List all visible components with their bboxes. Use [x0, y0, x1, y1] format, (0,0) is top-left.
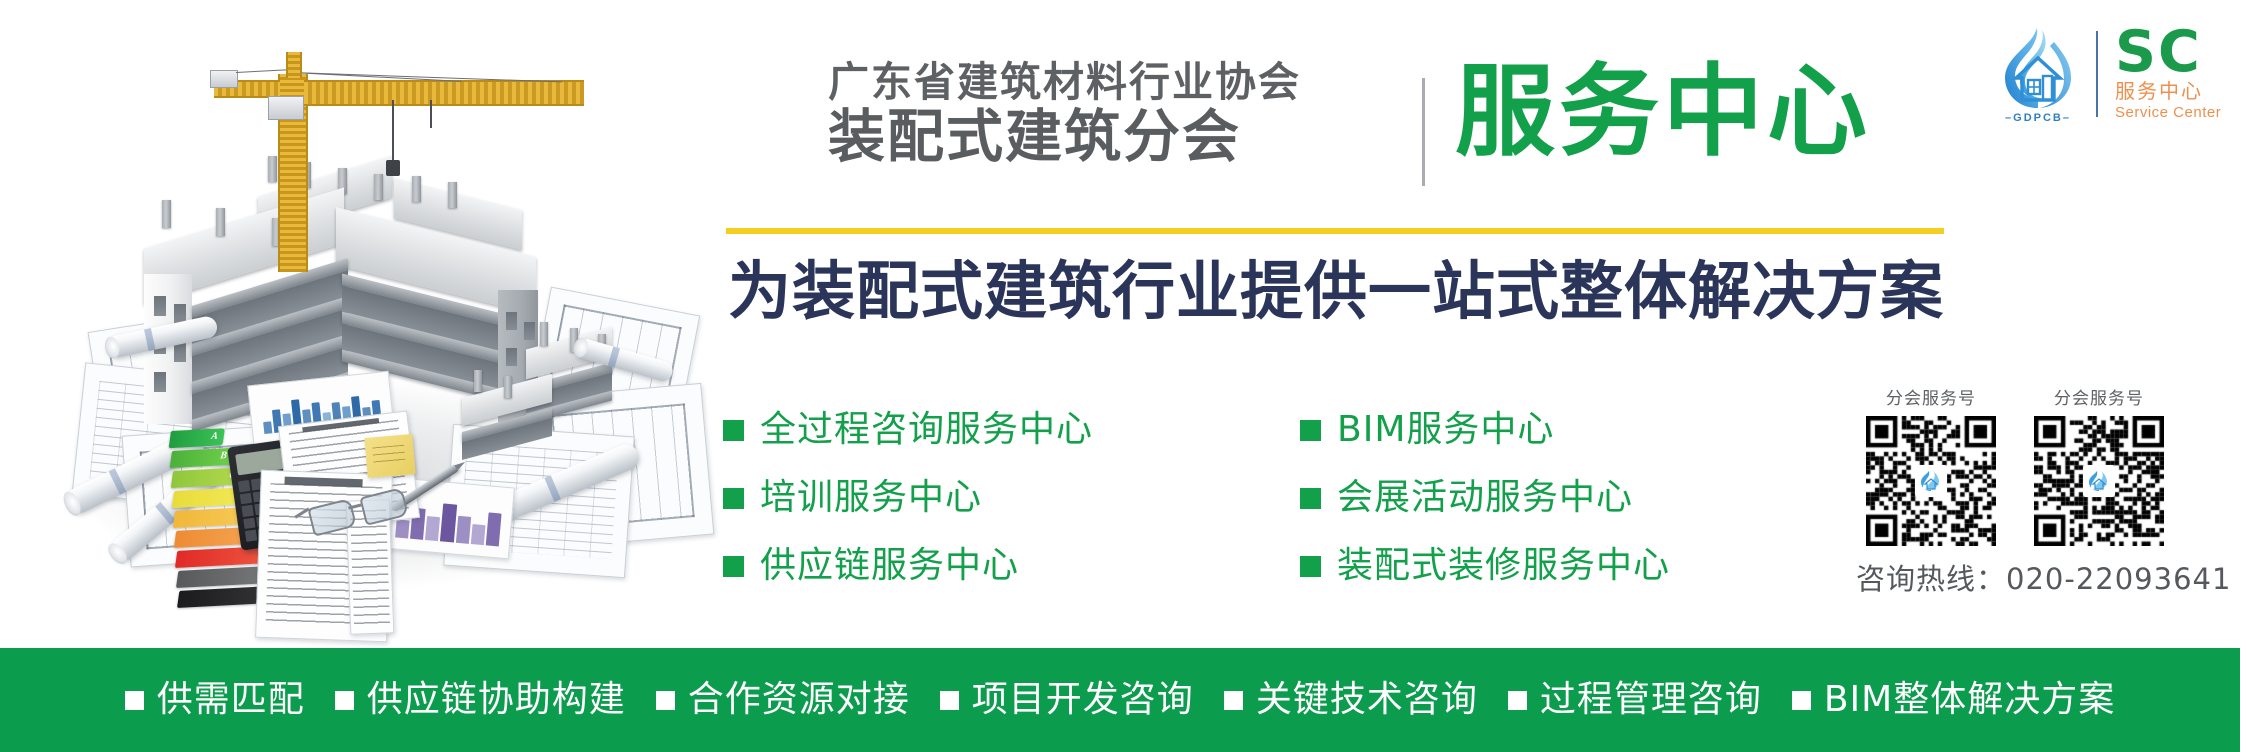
qr-center-logo	[2083, 465, 2115, 497]
association-name: 广东省建筑材料行业协会	[828, 60, 1388, 104]
service-item[interactable]: 全过程咨询服务中心	[723, 412, 1093, 448]
footer-item-label: 项目开发咨询	[972, 682, 1194, 718]
energy-rating-bar: A	[169, 428, 225, 448]
service-item-label: 装配式装修服务中心	[1337, 548, 1670, 584]
construction-illustration: A B C D E F G H I	[18, 0, 678, 640]
bullet-square-icon	[723, 556, 744, 577]
logo-divider	[2096, 31, 2098, 117]
gold-divider-rule	[726, 228, 1944, 234]
footer-item-label: BIM整体解决方案	[1824, 682, 2115, 718]
sc-chinese-label: 服务中心	[2115, 79, 2221, 104]
qr-code-group: 分会服务号 分会服务号	[1866, 384, 2164, 546]
bullet-square-icon	[723, 488, 744, 509]
service-item-label: 全过程咨询服务中心	[760, 412, 1093, 448]
bullet-square-icon	[656, 691, 675, 710]
flame-house-icon	[1919, 469, 1943, 493]
qr-caption: 分会服务号	[1866, 384, 1996, 409]
qr-cell: 分会服务号	[1866, 384, 1996, 546]
bullet-square-icon	[1300, 488, 1321, 509]
service-item-label: 培训服务中心	[760, 480, 982, 516]
flame-house-icon	[2087, 469, 2111, 493]
bullet-square-icon	[125, 691, 144, 710]
footer-item[interactable]: 供需匹配	[125, 682, 305, 718]
service-item[interactable]: 培训服务中心	[723, 480, 1093, 516]
bullet-square-icon	[1300, 420, 1321, 441]
service-list-right: BIM服务中心 会展活动服务中心 装配式装修服务中心	[1300, 412, 1670, 584]
qr-code-image[interactable]	[2034, 416, 2164, 546]
service-list-left: 全过程咨询服务中心 培训服务中心 供应链服务中心	[723, 412, 1093, 584]
footer-services-bar: 供需匹配 供应链协助构建 合作资源对接 项目开发咨询 关键技术咨询 过程管理咨询…	[0, 648, 2240, 752]
qr-caption: 分会服务号	[2034, 384, 2164, 409]
qr-center-logo	[1915, 465, 1947, 497]
flame-house-icon	[2002, 28, 2074, 114]
tower-crane-icon	[206, 22, 626, 272]
bullet-square-icon	[1792, 691, 1811, 710]
sticky-note	[364, 434, 415, 478]
bullet-square-icon	[1508, 691, 1527, 710]
crane-hoist-cable	[430, 100, 432, 128]
logo-block: –GDPCB– SC 服务中心 Service Center	[1988, 18, 2236, 130]
service-item[interactable]: 装配式装修服务中心	[1300, 548, 1670, 584]
bullet-square-icon	[940, 691, 959, 710]
hotline-text: 咨询热线：020-22093641	[1856, 556, 2231, 598]
energy-rating-bar: B	[170, 448, 234, 468]
footer-item-label: 供应链协助构建	[367, 682, 626, 718]
footer-item[interactable]: 过程管理咨询	[1508, 682, 1762, 718]
gdpcb-logo-mark: –GDPCB–	[1988, 22, 2088, 126]
service-center-heading: 服务中心	[1455, 62, 1871, 162]
qr-code-image[interactable]	[1866, 416, 1996, 546]
service-center-logo-text: SC 服务中心 Service Center	[2115, 26, 2221, 121]
service-item[interactable]: 会展活动服务中心	[1300, 480, 1670, 516]
footer-item[interactable]: 关键技术咨询	[1224, 682, 1478, 718]
tagline: 为装配式建筑行业提供一站式整体解决方案	[728, 256, 1944, 328]
association-branch: 装配式建筑分会	[828, 106, 1388, 169]
logo-abbreviation-text: –GDPCB–	[1988, 112, 2088, 124]
sc-abbrev: SC	[2115, 26, 2221, 78]
title-divider	[1422, 78, 1425, 186]
footer-item-label: 关键技术咨询	[1256, 682, 1478, 718]
footer-item[interactable]: 供应链协助构建	[335, 682, 626, 718]
association-title-block: 广东省建筑材料行业协会 装配式建筑分会	[828, 60, 1388, 169]
service-item-label: 供应链服务中心	[760, 548, 1019, 584]
bullet-square-icon	[1224, 691, 1243, 710]
service-item-label: 会展活动服务中心	[1337, 480, 1633, 516]
service-item[interactable]: BIM服务中心	[1300, 412, 1670, 448]
service-item[interactable]: 供应链服务中心	[723, 548, 1093, 584]
footer-item-label: 过程管理咨询	[1540, 682, 1762, 718]
qr-cell: 分会服务号	[2034, 384, 2164, 546]
promotional-banner: A B C D E F G H I	[0, 0, 2246, 752]
footer-item[interactable]: 项目开发咨询	[940, 682, 1194, 718]
bullet-square-icon	[723, 420, 744, 441]
sc-english-label: Service Center	[2115, 104, 2221, 122]
footer-item[interactable]: BIM整体解决方案	[1792, 682, 2115, 718]
footer-item-label: 供需匹配	[157, 682, 305, 718]
footer-item[interactable]: 合作资源对接	[656, 682, 910, 718]
crane-hoist-cable	[392, 100, 394, 162]
bullet-square-icon	[1300, 556, 1321, 577]
bullet-square-icon	[335, 691, 354, 710]
footer-item-label: 合作资源对接	[688, 682, 910, 718]
service-item-label: BIM服务中心	[1337, 412, 1554, 448]
